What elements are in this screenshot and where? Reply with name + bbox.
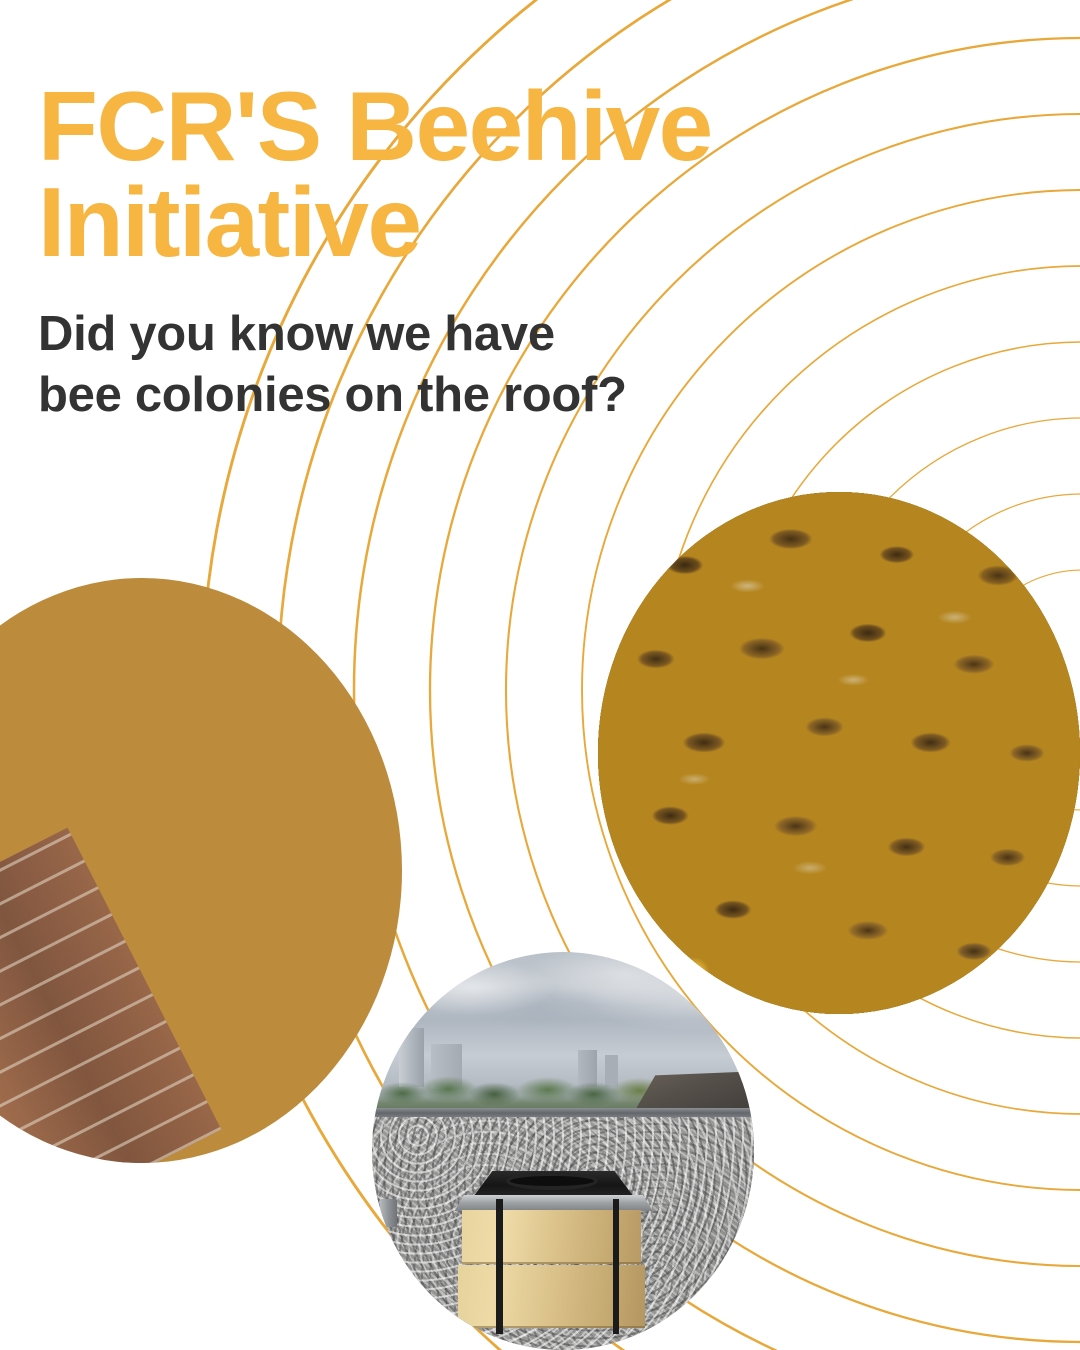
hive-lid-ring [510, 1176, 594, 1186]
photo-bees-image [598, 492, 1080, 1014]
hive-strap-right [613, 1199, 619, 1334]
headline-block: FCR'S Beehive Initiative Did you know we… [38, 78, 838, 426]
roof-vent-pipe [380, 1199, 397, 1227]
photo-bees-on-honeycomb [598, 492, 1080, 1014]
poster-canvas: FCR'S Beehive Initiative Did you know we… [0, 0, 1080, 1350]
photo-hive-frame-image [0, 578, 402, 1163]
page-subtitle: Did you know we have bee colonies on the… [38, 304, 838, 426]
brick-roof-texture [0, 827, 222, 1163]
photo-hive-frame [0, 578, 402, 1163]
page-title: FCR'S Beehive Initiative [38, 78, 838, 270]
photo-rooftop-hive [372, 952, 754, 1350]
hive-strap-left [496, 1199, 502, 1334]
photo-rooftop-image [372, 952, 754, 1350]
